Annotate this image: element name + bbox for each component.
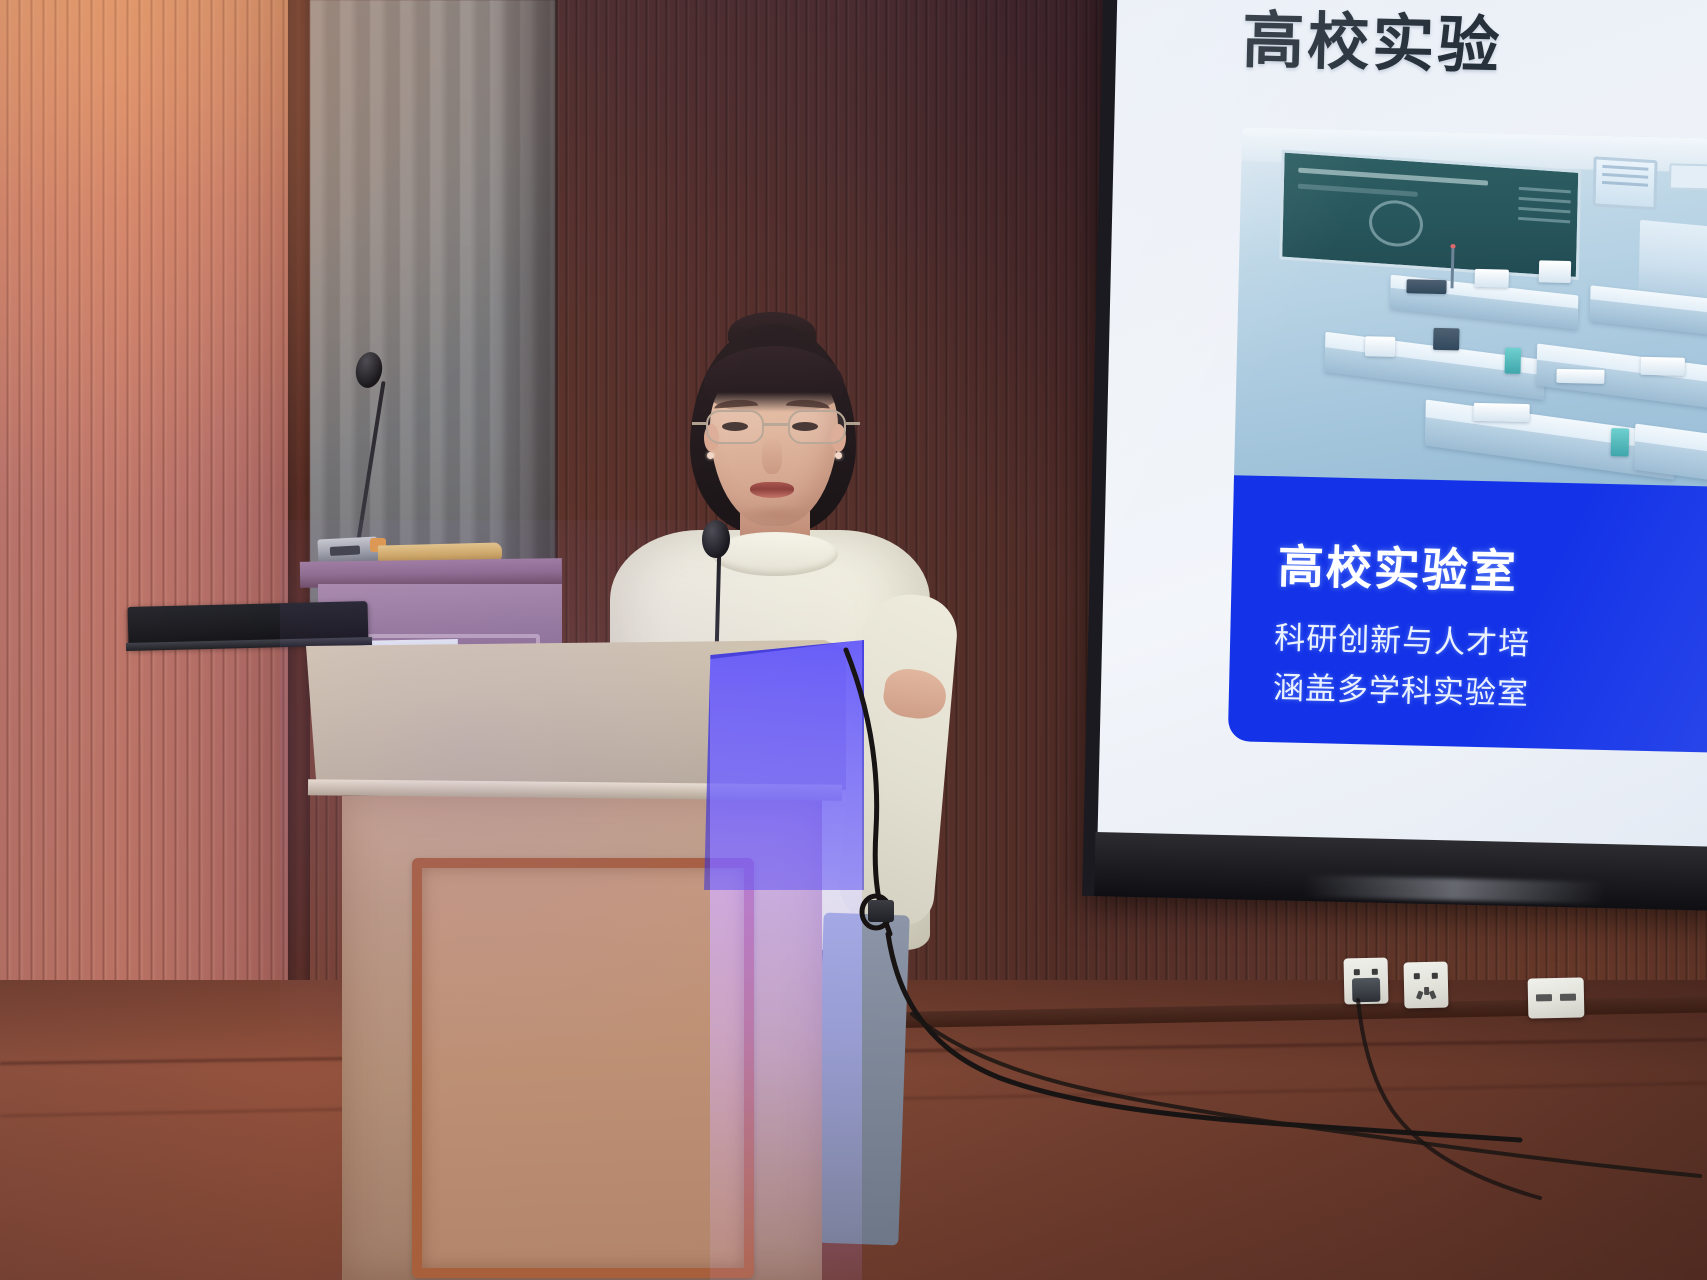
podium-microphone-head xyxy=(702,520,730,558)
slide-callout-block: 高校实验室 科研创新与人才培 涵盖多学科实验室 xyxy=(1228,475,1707,754)
wall-outlet[interactable] xyxy=(1404,962,1449,1009)
podium-front-panel xyxy=(412,858,754,1278)
blackboard-list xyxy=(1518,187,1571,231)
sweater-collar xyxy=(712,532,838,576)
plugged-connector xyxy=(1352,978,1380,1003)
lab-blackboard xyxy=(1279,149,1581,280)
speaker-podium xyxy=(306,640,858,1280)
lab-bench xyxy=(1634,424,1707,492)
wall-outlet-wide[interactable] xyxy=(1528,977,1585,1018)
presentation-scene: 高校实验 xyxy=(0,0,1707,1280)
eyeglass-lens-left xyxy=(706,410,764,444)
blackboard-writing xyxy=(1298,184,1418,197)
chin-shadow xyxy=(736,504,812,524)
lab-wall-monitor xyxy=(1592,156,1657,210)
outlet-three-pin xyxy=(1417,987,1435,999)
bezel-highlight xyxy=(1304,875,1604,904)
blackboard-writing xyxy=(1298,168,1488,186)
lab-tray xyxy=(1473,403,1529,422)
wall-outlet-with-plug[interactable] xyxy=(1344,958,1389,1005)
lab-paper xyxy=(1556,369,1604,384)
lab-instrument xyxy=(1475,269,1509,288)
callout-heading: 高校实验室 xyxy=(1277,530,1518,602)
curtain-shadow xyxy=(488,0,558,620)
mouth xyxy=(750,482,794,498)
blackboard-diagram xyxy=(1369,199,1424,249)
nose xyxy=(762,436,782,474)
slide-title: 高校实验 xyxy=(1241,0,1503,85)
callout-line-2: 涵盖多学科实验室 xyxy=(1273,662,1530,713)
lab-instrument xyxy=(1406,279,1446,294)
lab-microscope-base xyxy=(1365,336,1395,357)
lab-apparatus xyxy=(1611,428,1630,456)
podium-light-spill xyxy=(710,640,862,1280)
outlet-slots xyxy=(1354,969,1378,976)
cable-connector xyxy=(868,900,894,922)
outlet-bar-slot xyxy=(1536,994,1552,1001)
outlet-slots xyxy=(1414,973,1438,980)
lab-apparatus xyxy=(1505,348,1522,374)
outlet-bar-slot xyxy=(1560,994,1576,1001)
callout-line-1: 科研创新与人才培 xyxy=(1274,612,1531,663)
lab-wall-vent xyxy=(1669,163,1707,190)
earring-right xyxy=(835,452,842,459)
screen-surface: 高校实验 xyxy=(1098,0,1707,849)
lab-instrument xyxy=(1641,357,1685,376)
eyeglass-lens-right xyxy=(788,410,846,444)
eyeglass-temple-left xyxy=(692,422,706,425)
slide-laboratory-photo xyxy=(1234,127,1707,500)
eyeglass-bridge xyxy=(764,423,788,426)
lab-microscope xyxy=(1433,328,1460,351)
eyeglass-temple-right xyxy=(846,422,860,425)
projection-screen: 高校实验 xyxy=(1082,0,1707,911)
earring-left xyxy=(707,452,714,459)
lab-balance xyxy=(1539,260,1572,283)
